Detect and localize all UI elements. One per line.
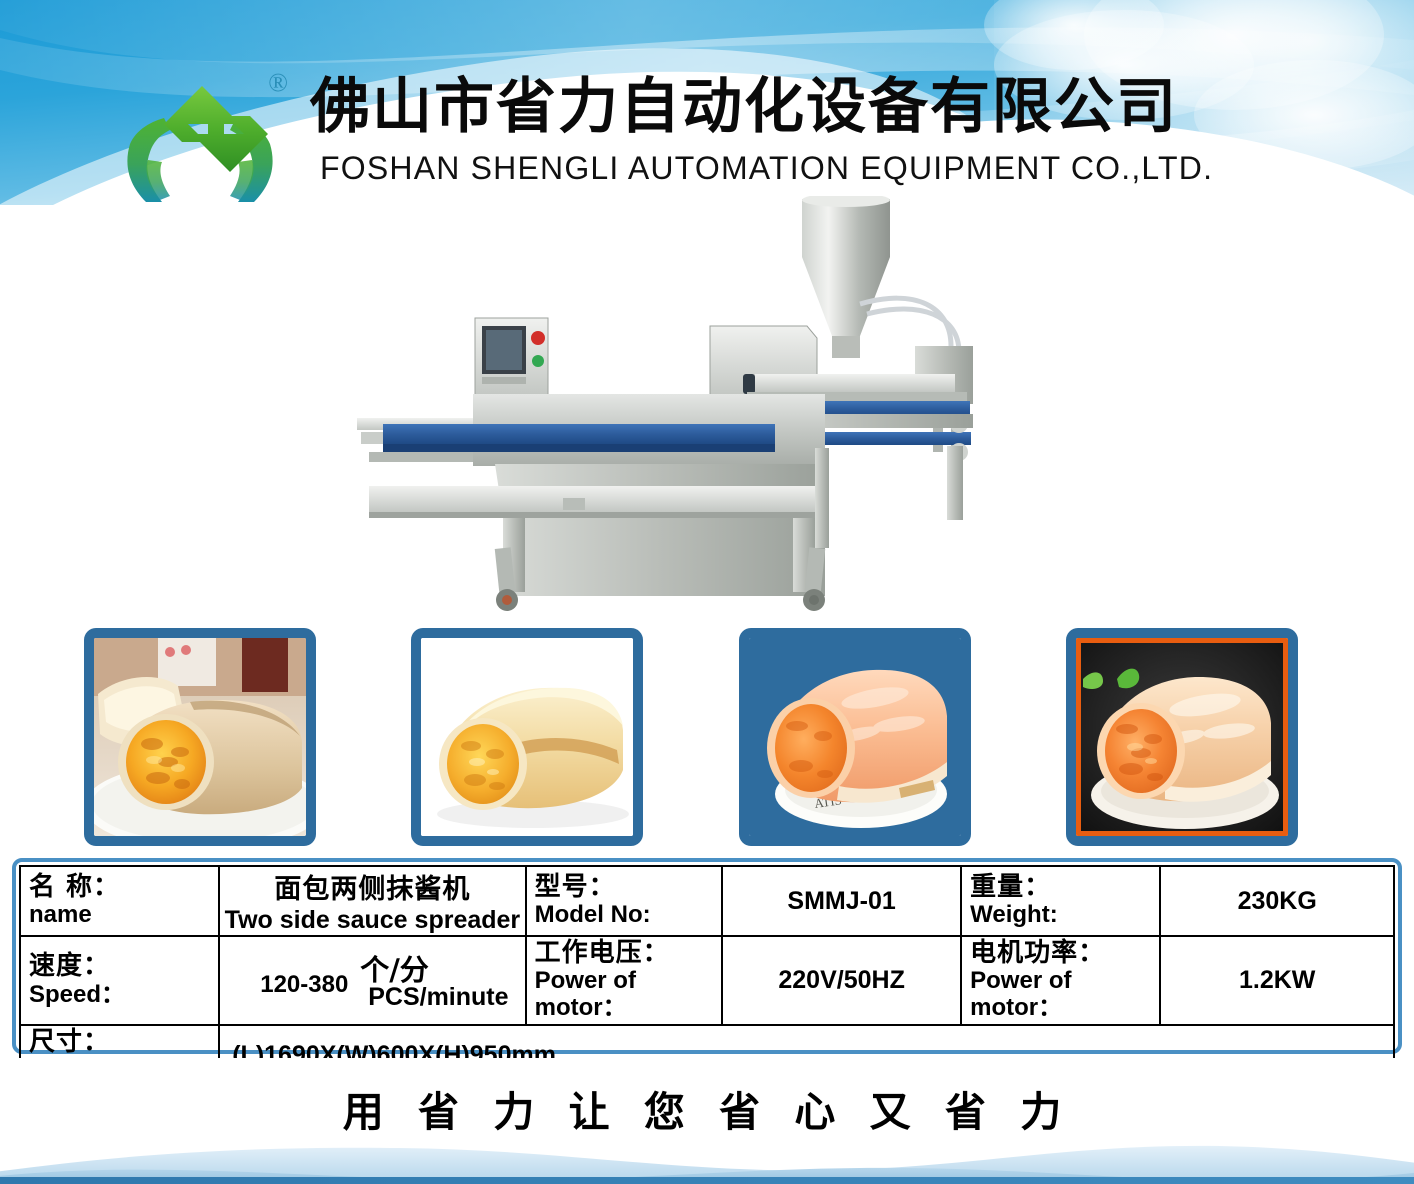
upper-rail xyxy=(755,374,955,392)
sauce-tubes-icon xyxy=(860,298,959,352)
table-row: 速度： Speed： 120-380 个/分 PCS/minute 工作电压： … xyxy=(20,936,1394,1025)
cell-name-value: 面包两侧抹酱机 Two side sauce spreader xyxy=(219,866,525,936)
drip-tray xyxy=(369,486,825,512)
name-label-en: name xyxy=(29,902,218,929)
product-name-cn: 面包两侧抹酱机 xyxy=(220,867,524,906)
cell-model-label: 型号： Model No: xyxy=(526,866,722,936)
gallery-thumb-1[interactable] xyxy=(84,628,316,846)
company-slogan: 用 省 力 让 您 省 心 又 省 力 xyxy=(0,1078,1414,1138)
cell-power-value: 1.2KW xyxy=(1160,936,1394,1025)
cell-speed-label: 速度： Speed： xyxy=(20,936,219,1025)
cell-voltage-label: 工作电压： Power of motor： xyxy=(526,936,722,1025)
table-row: 名 称： name 面包两侧抹酱机 Two side sauce spreade… xyxy=(20,866,1394,936)
machine-photo xyxy=(355,196,1025,626)
sauce-hopper-icon xyxy=(802,196,890,358)
gallery-thumb-4[interactable] xyxy=(1066,628,1298,846)
cell-power-label: 电机功率： Power of motor： xyxy=(961,936,1160,1025)
company-logo: ® xyxy=(118,72,288,204)
speed-unit-en: PCS/minute xyxy=(368,983,508,1012)
gallery-thumb-3[interactable]: ATIS xyxy=(739,628,971,846)
power-label-cn: 电机功率： xyxy=(970,939,1159,968)
weight-label-cn: 重量： xyxy=(970,873,1159,902)
cell-name-label: 名 称： name xyxy=(20,866,219,936)
company-name-cn: 佛山市省力自动化设备有限公司 xyxy=(310,76,1320,139)
power-label-en: Power of motor： xyxy=(970,968,1159,1022)
voltage-label-en: Power of motor： xyxy=(535,968,721,1022)
speed-label-cn: 速度： xyxy=(29,952,218,981)
model-label-en: Model No: xyxy=(535,902,721,929)
spec-table-frame: 名 称： name 面包两侧抹酱机 Two side sauce spreade… xyxy=(12,858,1402,1054)
speed-number: 120-380 xyxy=(260,971,348,999)
start-button xyxy=(532,355,544,367)
speed-label-en: Speed： xyxy=(29,982,218,1009)
gallery-thumb-2[interactable] xyxy=(411,628,643,846)
cell-weight-value: 230KG xyxy=(1160,866,1394,936)
spec-table: 名 称： name 面包两侧抹酱机 Two side sauce spreade… xyxy=(19,865,1395,1088)
cell-weight-label: 重量： Weight: xyxy=(961,866,1160,936)
product-gallery: ATIS xyxy=(0,626,1414,852)
machine-cabinet xyxy=(495,464,825,596)
dimension-label-cn: 尺寸： xyxy=(29,1028,218,1057)
footer-base-bar xyxy=(0,1177,1414,1184)
name-label-cn: 名 称： xyxy=(29,873,218,902)
weight-label-en: Weight: xyxy=(970,902,1159,929)
cell-speed-value: 120-380 个/分 PCS/minute xyxy=(219,936,525,1025)
model-label-cn: 型号： xyxy=(535,873,721,902)
cell-voltage-value: 220V/50HZ xyxy=(722,936,961,1025)
cell-model-value: SMMJ-01 xyxy=(722,866,961,936)
header-banner: ® 佛山市省力自动化设备有限公司 FOSHAN SHENGLI AUTOMATI… xyxy=(0,0,1414,205)
voltage-label-cn: 工作电压： xyxy=(535,939,721,968)
footer-banner: 用 省 力 让 您 省 心 又 省 力 xyxy=(0,1058,1414,1184)
product-name-en: Two side sauce spreader xyxy=(220,906,524,935)
product-spec-sheet: ® 佛山市省力自动化设备有限公司 FOSHAN SHENGLI AUTOMATI… xyxy=(0,0,1414,1184)
company-name-en: FOSHAN SHENGLI AUTOMATION EQUIPMENT CO.,… xyxy=(320,152,1330,184)
registered-trademark-icon: ® xyxy=(268,70,288,96)
main-conveyor-belt xyxy=(383,424,775,444)
emergency-stop-button xyxy=(531,331,545,345)
